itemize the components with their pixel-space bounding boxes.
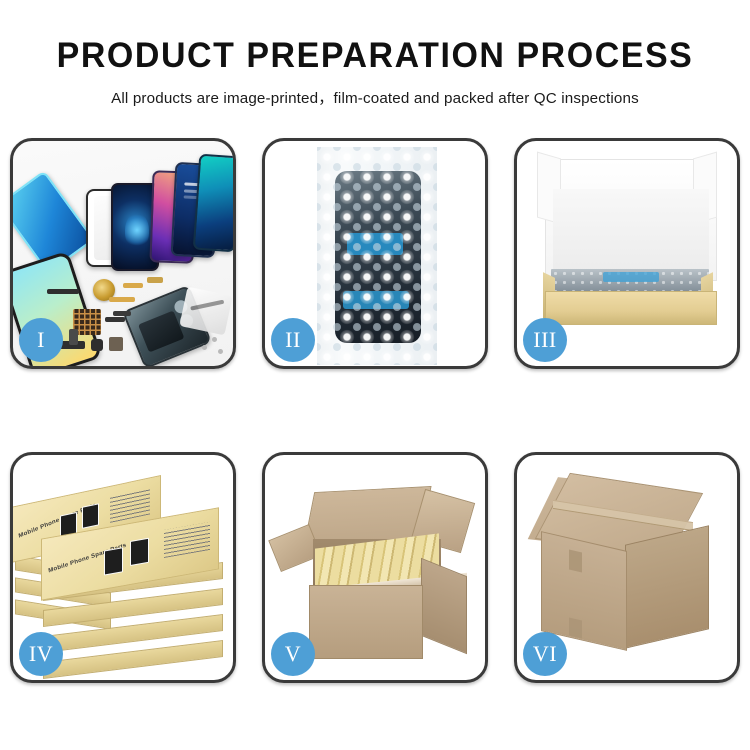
sealed-carton-side [625, 525, 709, 648]
step-panel-4: Mobile Phone Spare Parts Mobile Phone Sp… [10, 452, 236, 683]
process-steps-grid: I II [10, 138, 740, 683]
header: PRODUCT PREPARATION PROCESS All products… [0, 0, 750, 108]
spare-part [147, 277, 163, 283]
carton-side-right [421, 558, 467, 655]
spare-part [113, 311, 131, 316]
screw-part [202, 345, 207, 350]
page-title: PRODUCT PREPARATION PROCESS [11, 36, 739, 76]
step-panel-6: VI [514, 452, 740, 683]
step-badge-6: VI [523, 632, 567, 676]
phone-screen-teal [193, 154, 233, 253]
carton-front-wall [309, 585, 423, 659]
step-panel-5: V [262, 452, 488, 683]
product-preparation-infographic: PRODUCT PREPARATION PROCESS All products… [0, 0, 750, 750]
carton-seam [569, 549, 582, 572]
flex-cable-part [109, 297, 135, 302]
spare-part [47, 289, 79, 294]
box-screen-graphic [130, 538, 149, 566]
spare-part [123, 283, 143, 288]
step-badge-3: III [523, 318, 567, 362]
bubble-texture [317, 147, 437, 365]
screw-part [212, 337, 217, 342]
box-screen-graphic [82, 503, 99, 529]
step-badge-4: IV [19, 632, 63, 676]
inner-box-front-wall [545, 291, 717, 325]
spare-part [91, 339, 103, 351]
screw-part [218, 349, 223, 354]
step-panel-1: I [10, 138, 236, 369]
step-panel-3: III [514, 138, 740, 369]
step-badge-5: V [271, 632, 315, 676]
page-subtitle: All products are image-printed，film-coat… [0, 86, 750, 108]
step-badge-1: I [19, 318, 63, 362]
spare-part [109, 337, 123, 351]
box-screen-graphic [104, 547, 123, 575]
inner-box-cavity [553, 189, 709, 273]
flex-cable-part [105, 317, 125, 322]
bubble-wrap-sheet [317, 147, 437, 365]
spare-part [69, 329, 78, 345]
step-panel-2: II [262, 138, 488, 369]
carton-seam [569, 617, 582, 638]
step-badge-2: II [271, 318, 315, 362]
